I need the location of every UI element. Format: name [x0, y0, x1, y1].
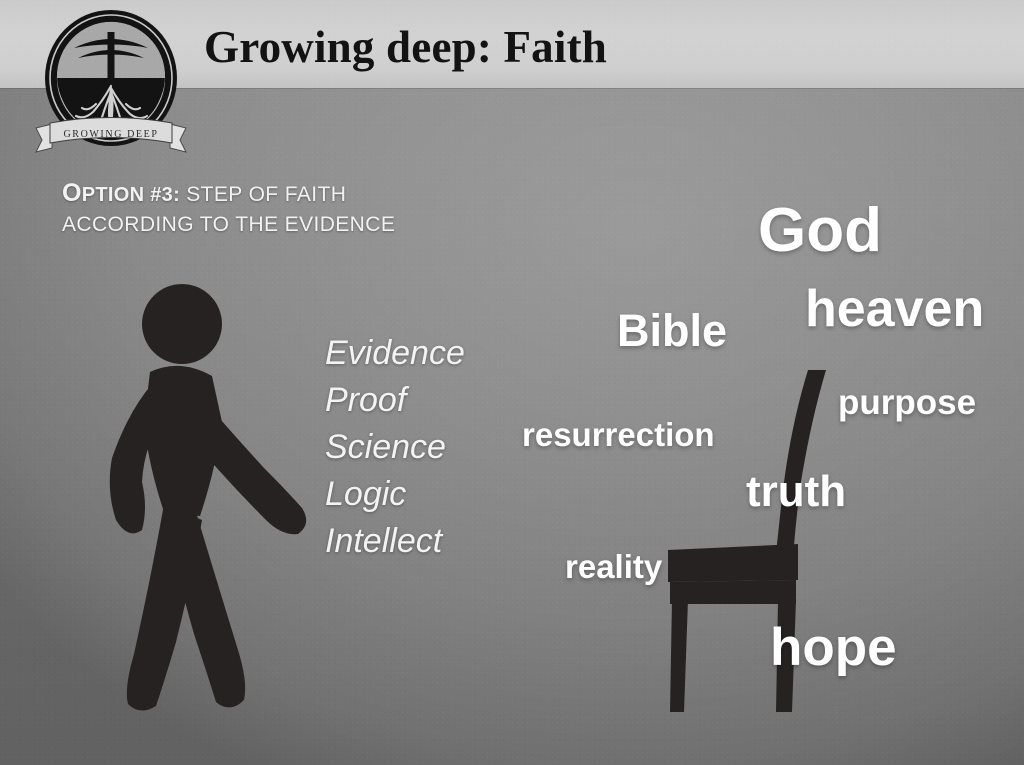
scattered-word-bible: Bible — [617, 305, 727, 357]
option-heading-line2: ACCORDING TO THE EVIDENCE — [62, 211, 532, 240]
scattered-word-resurrection: resurrection — [522, 416, 715, 454]
evidence-list-item: Logic — [325, 471, 465, 518]
evidence-list-item: Evidence — [325, 330, 465, 377]
option-label-smallcaps: PTION #3: — [82, 184, 180, 206]
evidence-list-item: Intellect — [325, 518, 465, 565]
scattered-word-reality: reality — [565, 548, 662, 586]
logo-banner-text: GROWING DEEP — [63, 129, 158, 140]
evidence-list-item: Science — [325, 424, 465, 471]
scattered-word-truth: truth — [746, 467, 846, 517]
evidence-list-item: Proof — [325, 377, 465, 424]
scattered-word-heaven: heaven — [805, 279, 984, 339]
scattered-word-purpose: purpose — [838, 383, 976, 423]
option-heading-rest-line1: STEP OF FAITH — [180, 183, 346, 206]
walking-person-icon — [72, 272, 322, 712]
scattered-word-god: God — [758, 195, 882, 266]
evidence-list: Evidence Proof Science Logic Intellect — [325, 330, 465, 565]
option-heading-line1: OPTION #3: STEP OF FAITH — [62, 176, 532, 211]
option-heading: OPTION #3: STEP OF FAITH ACCORDING TO TH… — [62, 176, 532, 239]
option-label: OPTION #3: — [62, 179, 180, 207]
growing-deep-logo: GROWING DEEP — [18, 8, 204, 166]
page-title: Growing deep: Faith — [204, 21, 607, 73]
slide: GROWING DEEP Growing deep: Faith OPTION … — [0, 0, 1024, 765]
scattered-word-hope: hope — [770, 617, 897, 678]
